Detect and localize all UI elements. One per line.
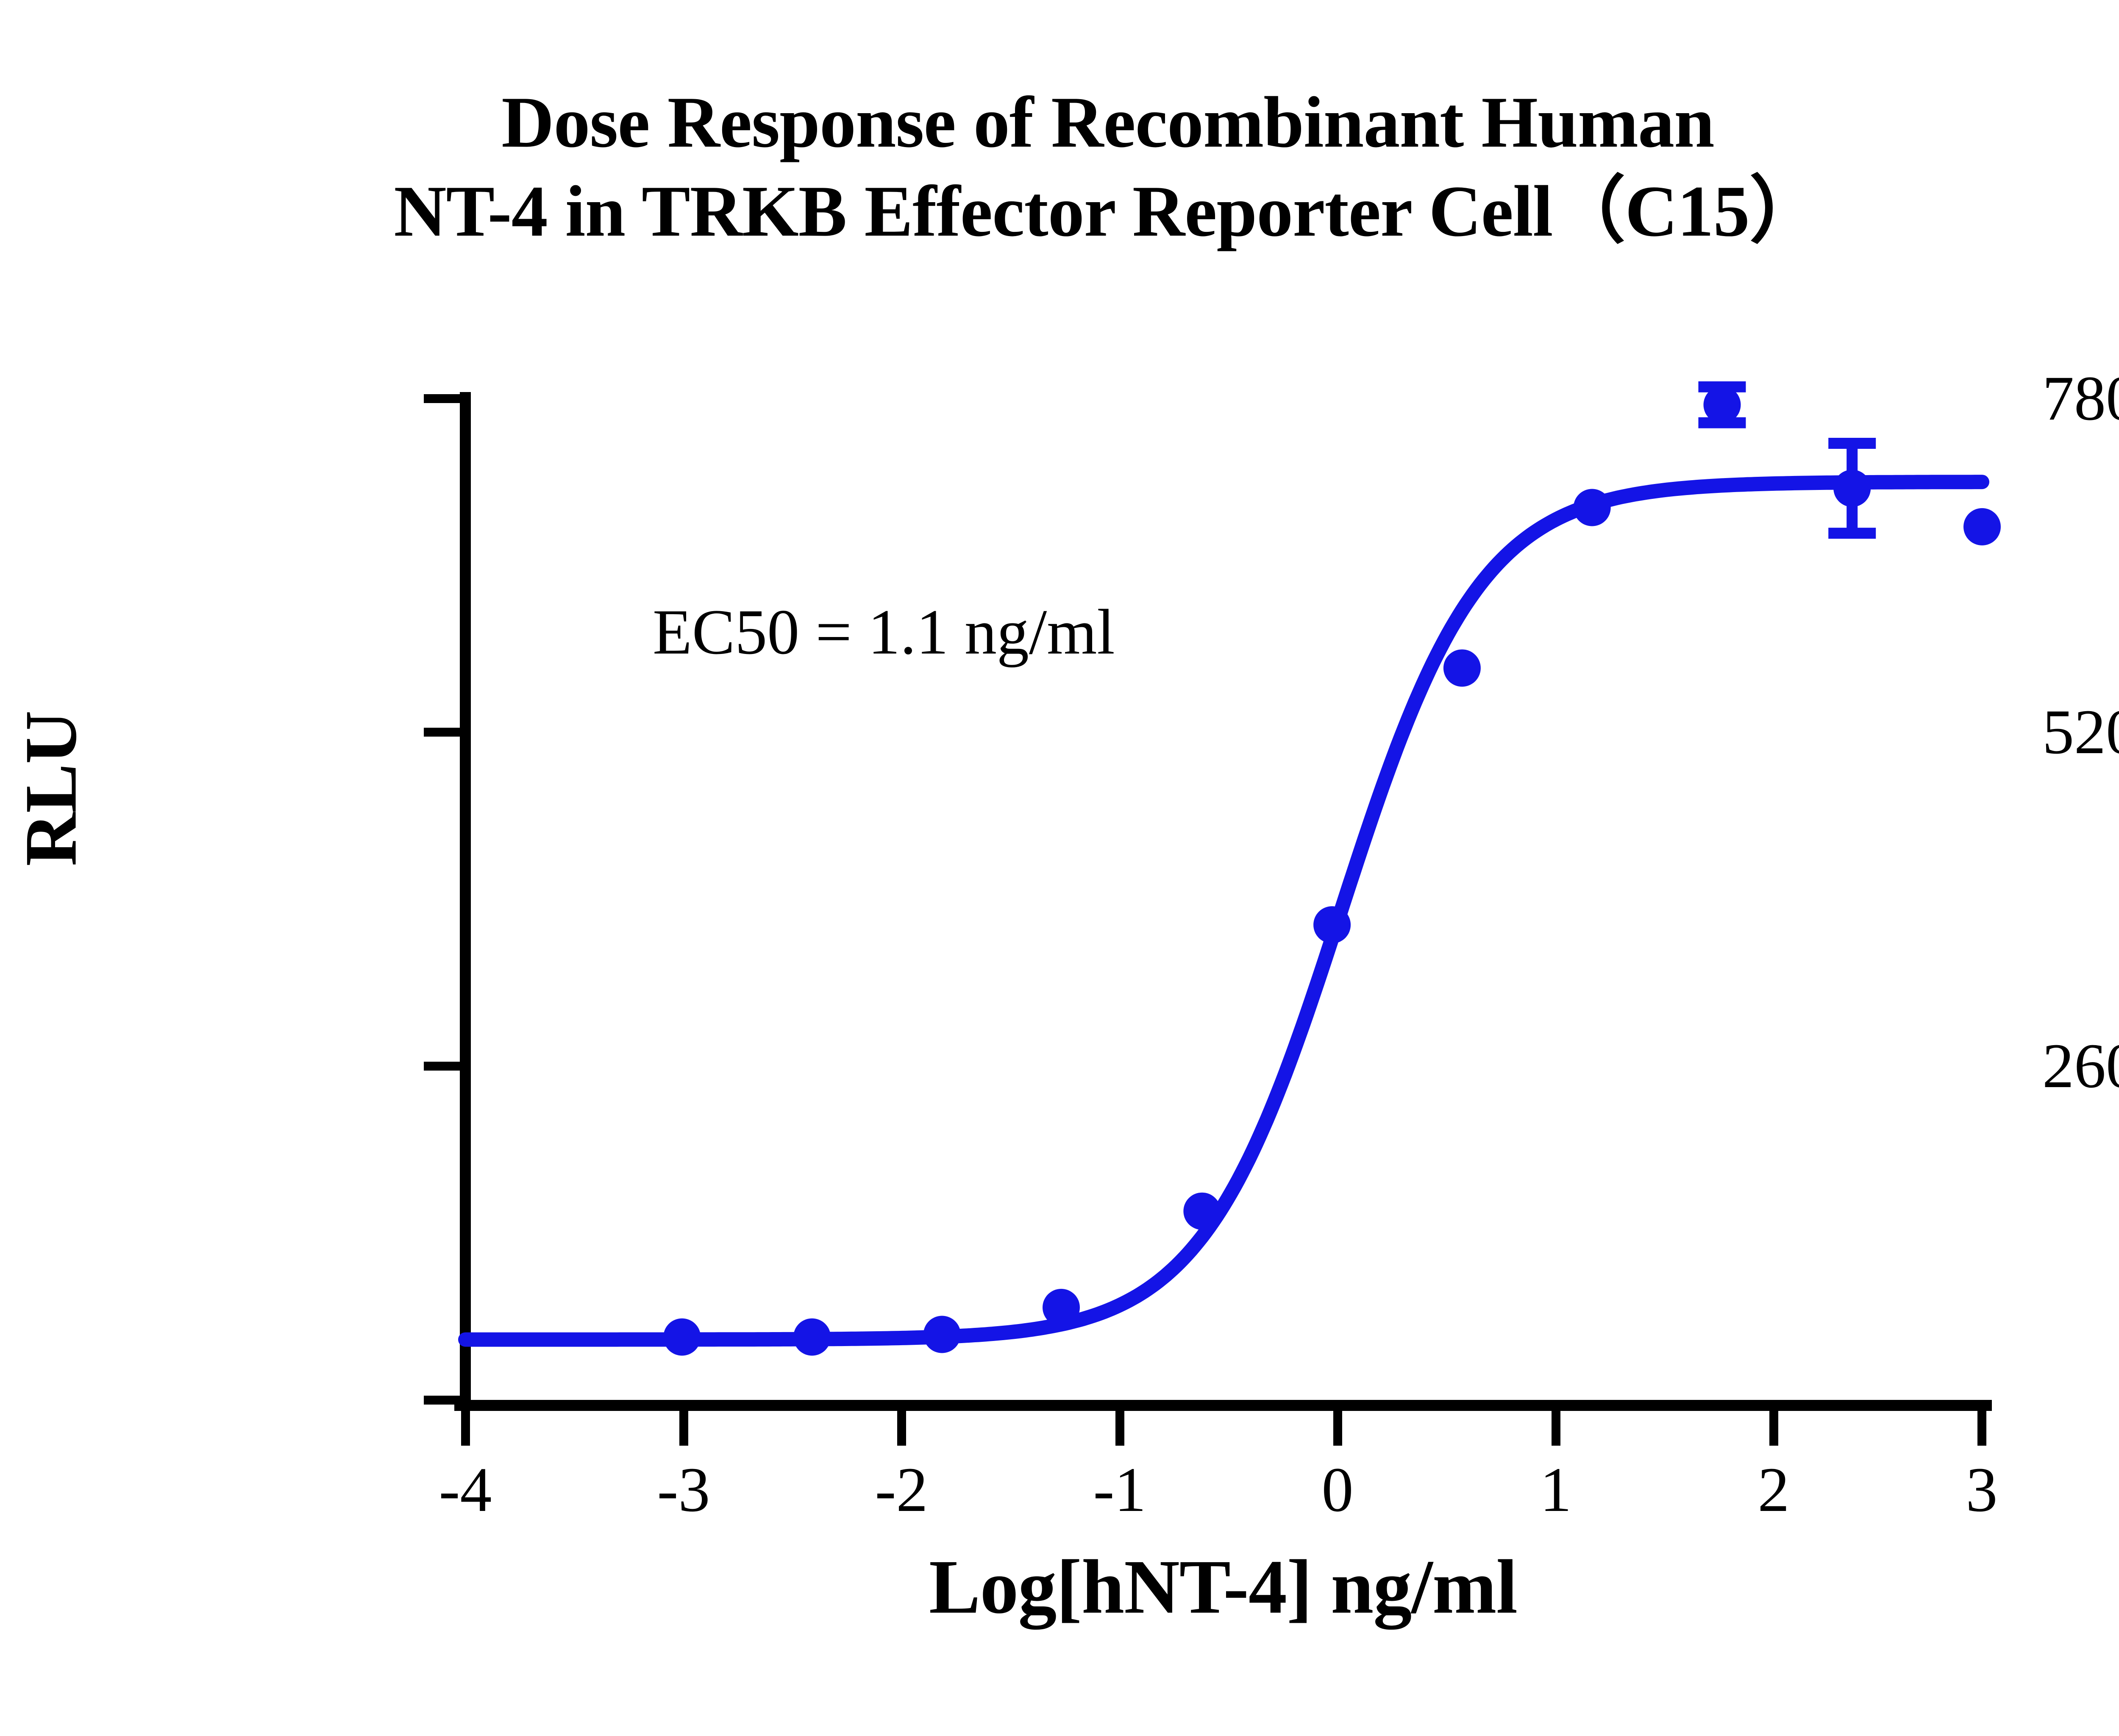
chart-page: Dose Response of Recombinant Human NT-4 … <box>0 0 2119 1736</box>
data-point-marker <box>1443 649 1481 687</box>
data-point-marker <box>923 1316 961 1353</box>
data-point-marker <box>1183 1193 1221 1230</box>
data-point-marker <box>793 1319 831 1356</box>
data-point-marker <box>663 1319 701 1356</box>
data-point-marker <box>1574 489 1611 526</box>
series-layer <box>0 0 2119 1736</box>
data-point-markers <box>663 386 2001 1356</box>
data-point-marker <box>1833 470 1871 507</box>
data-point-marker <box>1704 386 1741 423</box>
data-point-marker <box>1043 1289 1080 1326</box>
data-point-marker <box>1313 906 1351 943</box>
data-point-marker <box>1963 508 2001 545</box>
dose-response-curve <box>465 482 1982 1340</box>
plot-area: 0 26000 52000 78000 -4 -3 -2 -1 0 1 2 3 … <box>0 0 2119 1736</box>
